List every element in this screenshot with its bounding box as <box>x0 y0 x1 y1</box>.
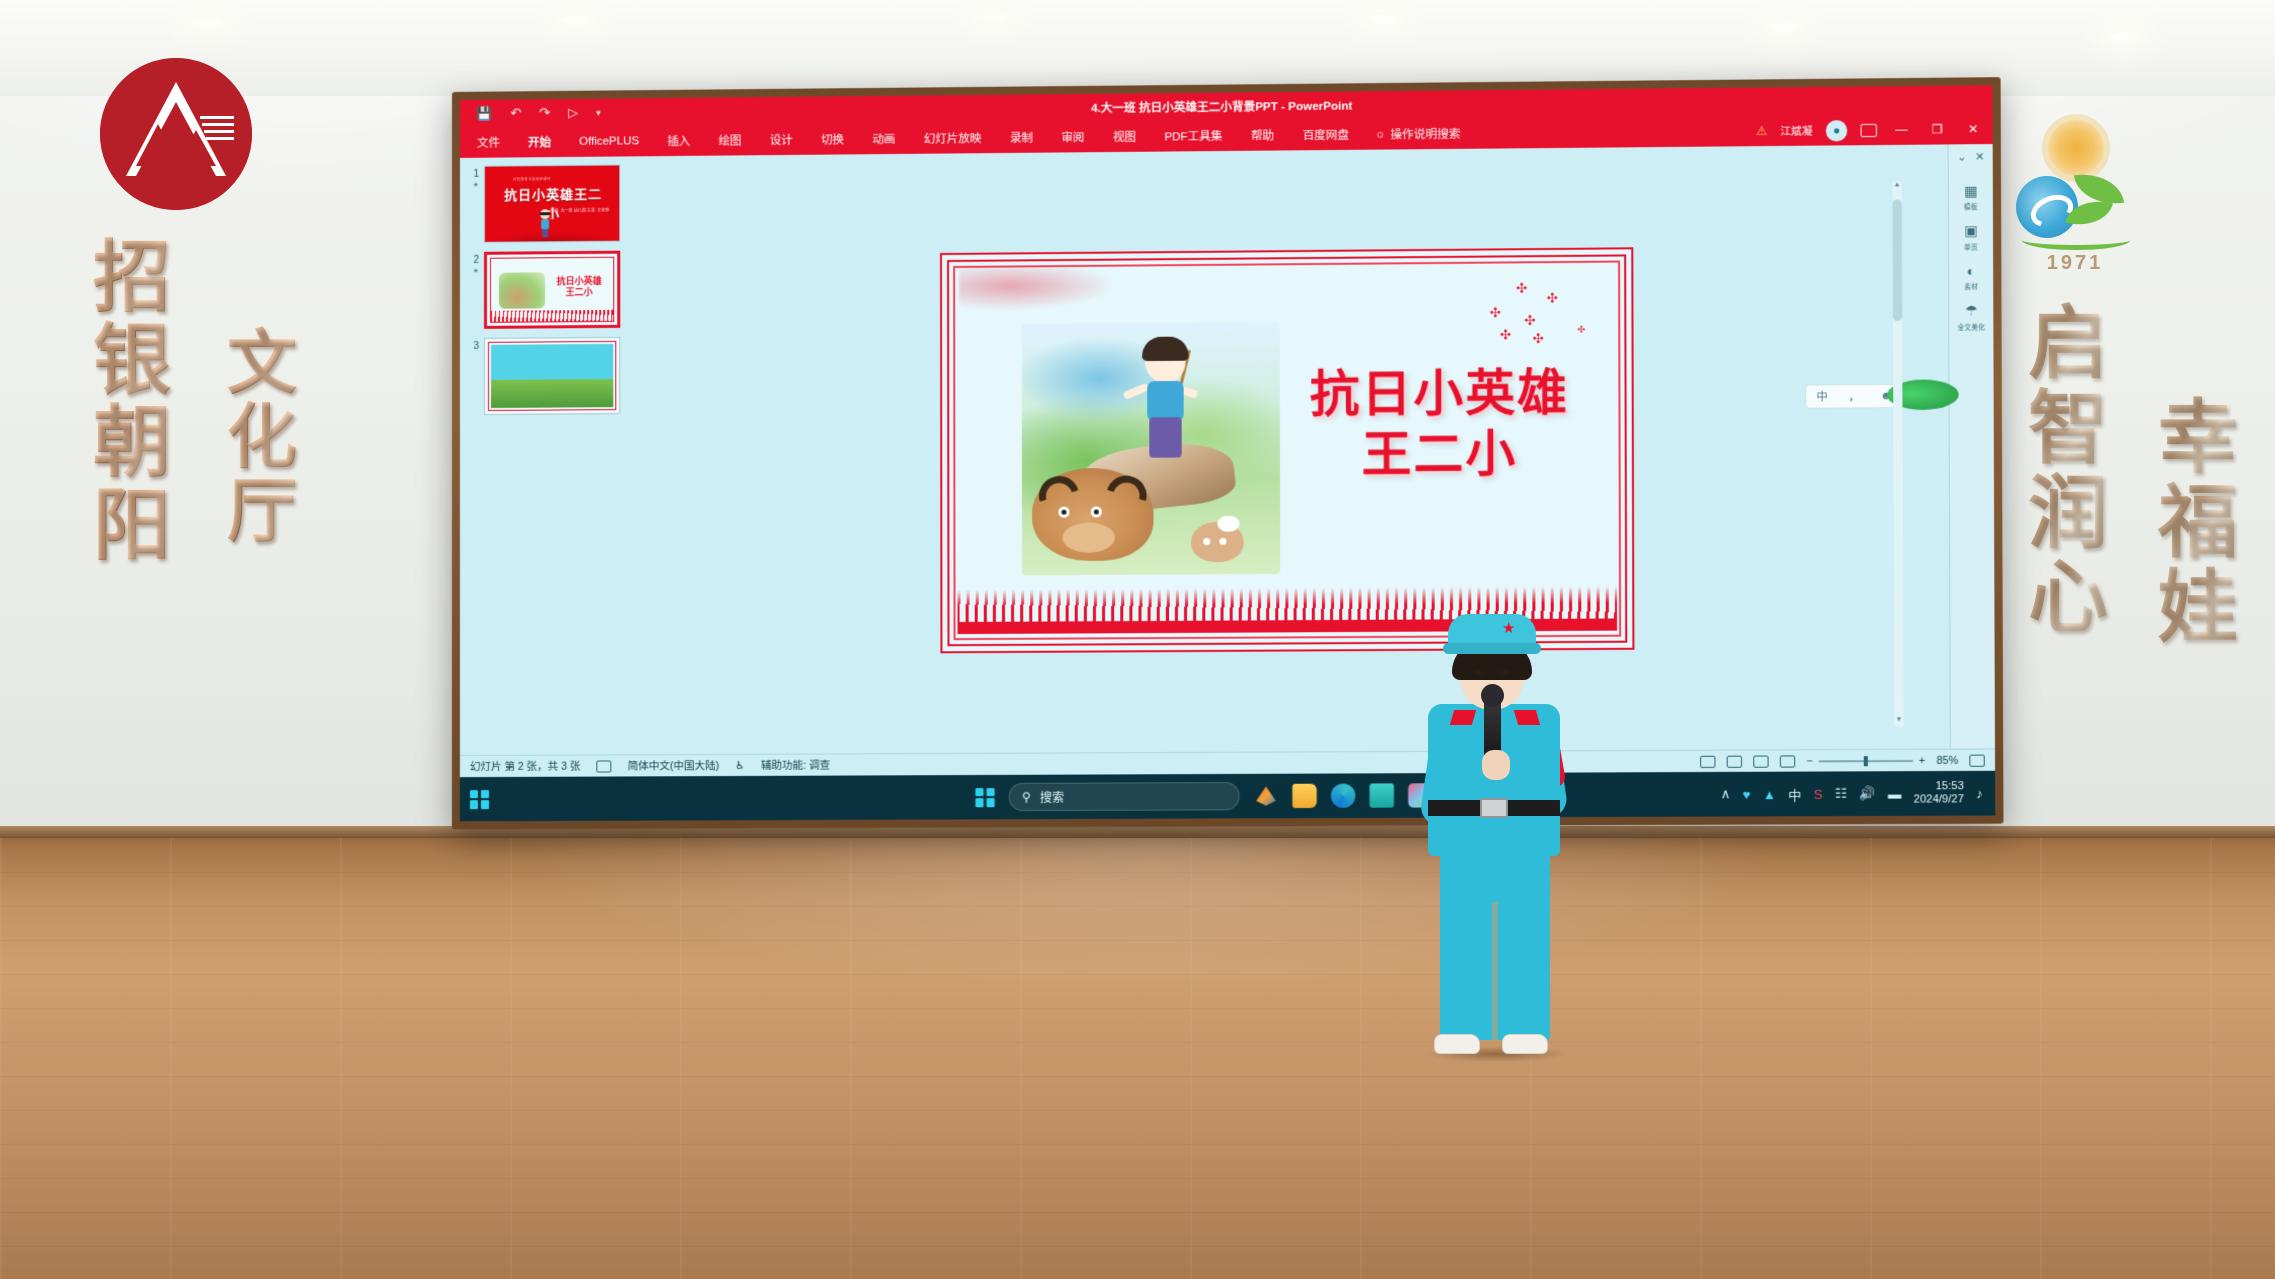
account-user-name[interactable]: 江斌凝 <box>1780 123 1812 138</box>
lightbulb-icon: ☼ <box>1375 128 1386 140</box>
zoom-level-label: 85% <box>1937 754 1959 766</box>
tab-officeplus[interactable]: OfficePLUS <box>576 133 642 150</box>
boy-torso <box>1147 381 1184 422</box>
slide-number: 2 ★ <box>464 252 479 276</box>
thumb1-subtitle: 红色教育主题班会课件 <box>513 176 551 181</box>
ime-mode-indicator[interactable]: 中 <box>1817 388 1828 404</box>
ime-chinese-icon[interactable]: 中 <box>1788 784 1801 803</box>
list-item[interactable]: 3 <box>464 337 624 415</box>
thumb2-title-line1: 抗日小英雄 <box>548 276 610 287</box>
boy-legs <box>1149 417 1181 458</box>
slide-title-line1: 抗日小英雄 <box>1287 364 1592 427</box>
slide-spray-decoration <box>959 267 1131 315</box>
presenter-shoe <box>1502 1034 1548 1054</box>
tab-draw[interactable]: 绘图 <box>715 130 744 150</box>
language-label[interactable]: 简体中文(中国大陆) <box>628 758 719 773</box>
bird-icon: ✣ <box>1533 332 1550 341</box>
presenter-red-collar-patch <box>1514 710 1540 725</box>
buffalo-snout <box>1062 522 1115 553</box>
slide-number: 3 <box>464 338 479 353</box>
presenter-hand <box>1482 750 1510 780</box>
wall-char: 润 <box>2008 472 2128 557</box>
template-icon: ▦ <box>1949 184 1993 200</box>
officeplus-side-panel[interactable]: ⌄ ✕ ▦ 模板 ▣ 单页 ◐ 素材 <box>1948 144 1995 749</box>
ceiling-light <box>186 16 232 30</box>
tab-baidu-netdisk[interactable]: 百度网盘 <box>1299 125 1352 146</box>
wall-char: 化 <box>202 400 322 474</box>
zoom-slider[interactable]: − + <box>1806 754 1925 767</box>
presenter-army-cap: ★ <box>1448 614 1536 650</box>
thumb2-illustration <box>499 272 545 308</box>
wall-char: 厅 <box>202 474 322 548</box>
wall-char: 心 <box>2008 556 2128 641</box>
taskbar-center: ⚲ 搜索 <box>975 781 1471 811</box>
comma-icon[interactable]: ， <box>1848 388 1859 404</box>
notification-bell-icon[interactable]: ♪ <box>1976 786 1983 801</box>
undo-icon[interactable]: ↶ <box>510 105 521 121</box>
projection-screen-frame: 💾 ↶ ↷ ▷ ▾ 4.大一班 抗日小英雄王二小背景PPT - PowerPoi… <box>452 77 2004 829</box>
task-view-icon[interactable] <box>1254 784 1278 808</box>
kindergarten-logo: 1971 <box>2000 120 2150 270</box>
tab-record[interactable]: 录制 <box>1007 128 1036 148</box>
slide-number-label: 3 <box>473 341 479 352</box>
dog-eye <box>1203 538 1210 545</box>
wall-char: 朝 <box>72 401 192 484</box>
presenter-red-collar-patch <box>1450 710 1476 725</box>
wall-char: 阳 <box>72 484 192 567</box>
slide-title-line2: 王二小 <box>1287 424 1592 486</box>
notes-icon[interactable] <box>597 760 612 772</box>
sun-icon <box>2048 120 2104 176</box>
wall-char: 福 <box>2138 481 2258 566</box>
mail-icon[interactable] <box>1370 783 1394 807</box>
side-panel-item-label: 单页 <box>1949 241 1993 251</box>
cmb-logo-mark <box>100 58 252 210</box>
scroll-down-arrow-icon[interactable]: ▼ <box>1894 716 1903 726</box>
slide-title-textbox[interactable]: 抗日小英雄 王二小 <box>1287 364 1592 487</box>
tab-file[interactable]: 文件 <box>474 133 503 153</box>
slide-star-icon: ★ <box>464 181 479 190</box>
save-icon[interactable]: 💾 <box>476 106 492 122</box>
dog-illustration <box>1191 522 1244 563</box>
presenter-eye <box>1474 670 1483 675</box>
reading-view-icon[interactable] <box>1753 755 1768 767</box>
start-slideshow-icon[interactable]: ▷ <box>568 105 578 121</box>
boy-arm <box>1122 383 1149 400</box>
buffalo-horn-icon <box>1034 471 1078 502</box>
left-wall-signage: 招 银 朝 阳 文 化 厅 <box>52 58 412 718</box>
vertical-scrollbar[interactable]: ▲ ▼ <box>1892 181 1903 726</box>
search-placeholder: 搜索 <box>1040 788 1064 805</box>
zoom-track[interactable] <box>1819 759 1913 761</box>
bird-icon: ✣ <box>1500 328 1517 337</box>
buffalo-illustration <box>1032 468 1153 561</box>
ceiling-light <box>1360 12 1406 26</box>
floor-reflection <box>0 838 2275 1279</box>
bird-icon: ✣ <box>1516 281 1533 290</box>
tab-transitions[interactable]: 切换 <box>818 129 847 149</box>
list-item[interactable]: 2 ★ 抗日小英雄 王二小 <box>464 251 624 329</box>
bird-icon: ✣ <box>1524 314 1541 323</box>
fit-to-window-icon[interactable] <box>1969 754 1984 766</box>
clock-time: 15:53 <box>1914 780 1964 794</box>
tab-view[interactable]: 视图 <box>1110 127 1139 147</box>
boy-illustration <box>1131 340 1200 461</box>
zoom-knob[interactable] <box>1864 756 1868 766</box>
redo-icon[interactable]: ↷ <box>539 105 550 121</box>
boy-hair <box>1142 337 1189 362</box>
cap-brim <box>1443 643 1541 654</box>
status-bar-right: − + 85% <box>1700 754 1985 767</box>
microphone-head <box>1481 684 1504 707</box>
scrollbar-thumb[interactable] <box>1893 200 1903 322</box>
minimize-button[interactable]: — <box>1890 122 1913 136</box>
system-tray: ∧ ♥ ▲ 中 S ☷ 🔊 ▬ 15:53 2024/9/27 ♪ <box>1721 780 1983 808</box>
windows-taskbar: ⚲ 搜索 ∧ ♥ ▲ 中 S ☷ 🔊 <box>460 771 1995 822</box>
tab-insert[interactable]: 插入 <box>664 131 693 151</box>
slide-thumbnail-3[interactable] <box>484 337 620 415</box>
thumb1-meta: 班级: 大一班 幼儿园 主讲: 王老师 <box>550 208 609 215</box>
auditorium-scene: 招 银 朝 阳 文 化 厅 1971 启 智 润 心 幸 福 <box>0 0 2275 1279</box>
tell-me-label: 操作说明搜索 <box>1390 126 1460 143</box>
wall-char: 文 <box>202 326 322 400</box>
tab-slideshow[interactable]: 幻灯片放映 <box>921 128 985 149</box>
ribbon-tabs: 文件 开始 OfficePLUS 插入 绘图 设计 切换 动画 幻灯片放映 录制… <box>474 125 1352 153</box>
bird-icon: ✣ <box>1577 325 1594 334</box>
right-wall-text-column-2: 幸 福 娃 <box>2138 396 2258 650</box>
normal-view-icon[interactable] <box>1700 755 1715 767</box>
flying-birds-decoration: ✣ ✣ ✣ ✣ ✣ ✣ ✣ <box>1419 279 1592 349</box>
thumb2-grass-border <box>491 310 613 322</box>
user-avatar-icon[interactable]: ● <box>1826 120 1848 141</box>
dog-tuft <box>1217 516 1239 532</box>
side-panel-item-beautify[interactable]: ☂ 全文美化 <box>1949 303 1993 331</box>
water-drop-icon <box>2016 176 2078 238</box>
accessibility-label[interactable]: 辅助功能: 调查 <box>761 757 830 772</box>
buffalo-eye <box>1058 507 1069 518</box>
ceiling-light <box>552 14 598 28</box>
zoom-out-button[interactable]: − <box>1806 755 1812 767</box>
side-panel-item-template[interactable]: ▦ 模板 <box>1949 184 1993 212</box>
buffalo-eye <box>1091 506 1102 517</box>
thumb1-boy-illustration <box>535 208 555 238</box>
presenter-eye <box>1500 670 1509 675</box>
wall-char: 招 <box>72 236 192 319</box>
show-hidden-icons-chevron[interactable]: ∧ <box>1721 786 1731 802</box>
ribbon-display-options-icon[interactable] <box>1861 123 1877 136</box>
close-icon[interactable]: ✕ <box>1975 150 1984 163</box>
wall-char: 启 <box>2008 302 2128 387</box>
close-button[interactable]: ✕ <box>1962 122 1985 136</box>
current-slide[interactable]: ✣ ✣ ✣ ✣ ✣ ✣ ✣ 抗日小英雄 王二小 <box>947 254 1627 646</box>
bird-icon: ✣ <box>1490 306 1507 315</box>
wooden-floor <box>0 838 2275 1279</box>
search-icon: ⚲ <box>1022 790 1031 804</box>
thumb3-illustration <box>491 344 613 408</box>
slide-thumbnail-pane[interactable]: 1 ★ 红色教育主题班会课件 抗日小英雄王二小 班级: 大一班 幼儿园 主讲: … <box>460 156 631 755</box>
wall-char: 银 <box>72 319 192 402</box>
tab-review[interactable]: 审阅 <box>1058 127 1087 147</box>
restore-button[interactable]: ❐ <box>1926 122 1949 136</box>
projected-desktop: 💾 ↶ ↷ ▷ ▾ 4.大一班 抗日小英雄王二小背景PPT - PowerPoi… <box>460 85 1995 821</box>
thumb2-title: 抗日小英雄 王二小 <box>548 276 610 298</box>
sogou-icon[interactable]: S <box>1814 786 1823 801</box>
cmb-logo <box>100 58 252 210</box>
zoom-in-button[interactable]: + <box>1919 754 1925 766</box>
powerpoint-window: 💾 ↶ ↷ ▷ ▾ 4.大一班 抗日小英雄王二小背景PPT - PowerPoi… <box>460 85 1995 777</box>
presenter-belt-buckle <box>1480 798 1508 818</box>
presenter-shoe <box>1434 1034 1480 1054</box>
left-wall-text-column-2: 文 化 厅 <box>202 326 322 549</box>
scroll-up-arrow-icon[interactable]: ▲ <box>1892 181 1901 191</box>
side-panel-header: ⌄ ✕ <box>1949 148 1993 172</box>
wall-char: 娃 <box>2138 566 2258 651</box>
slide-number: 1 ★ <box>464 166 479 190</box>
taskbar-clock[interactable]: 15:53 2024/9/27 <box>1914 780 1964 807</box>
titlebar-right-controls: ⚠ 江斌凝 ● — ❐ ✕ <box>1756 118 1984 141</box>
bird-icon: ✣ <box>1547 291 1564 300</box>
chevron-down-icon[interactable]: ⌄ <box>1957 150 1966 163</box>
edge-browser-icon[interactable] <box>1331 784 1355 808</box>
slide-count-label: 幻灯片 第 2 张，共 3 张 <box>470 759 581 775</box>
warning-triangle-icon[interactable]: ⚠ <box>1756 124 1767 138</box>
slide-thumbnail-1[interactable]: 红色教育主题班会课件 抗日小英雄王二小 班级: 大一班 幼儿园 主讲: 王老师 <box>484 164 620 242</box>
slide-number-label: 2 <box>473 255 479 266</box>
security-shield-icon[interactable]: ♥ <box>1743 787 1751 802</box>
ceiling-light <box>2102 30 2148 44</box>
side-panel-item-single-page[interactable]: ▣ 单页 <box>1949 223 1993 251</box>
right-wall-text-column-1: 启 智 润 心 <box>2008 302 2128 641</box>
windows-start-icon[interactable] <box>975 788 994 807</box>
tell-me-search[interactable]: ☼ 操作说明搜索 <box>1375 126 1461 143</box>
beautify-icon: ☂ <box>1949 303 1993 319</box>
ceiling-light <box>970 10 1016 24</box>
stem-icon <box>2022 230 2130 250</box>
file-explorer-icon[interactable] <box>1292 784 1316 808</box>
tab-home[interactable]: 开始 <box>525 132 554 152</box>
material-icon: ◐ <box>1949 263 1993 279</box>
ceiling-light <box>1760 20 1806 34</box>
left-wall-text-column-1: 招 银 朝 阳 <box>72 236 192 567</box>
child-presenter: ★ <box>1400 614 1590 1094</box>
taskbar-left <box>470 790 489 809</box>
side-panel-item-label: 全文美化 <box>1949 321 1993 331</box>
clock-date: 2024/9/27 <box>1914 793 1964 807</box>
tab-animations[interactable]: 动画 <box>869 129 898 149</box>
customize-qat-icon[interactable]: ▾ <box>596 107 601 118</box>
list-item[interactable]: 1 ★ 红色教育主题班会课件 抗日小英雄王二小 班级: 大一班 幼儿园 主讲: … <box>464 164 624 242</box>
slide-thumbnail-2[interactable]: 抗日小英雄 王二小 <box>484 251 620 329</box>
single-page-icon: ▣ <box>1949 223 1993 239</box>
tab-design[interactable]: 设计 <box>767 130 796 150</box>
slide-star-icon: ★ <box>464 267 479 276</box>
side-panel-item-label: 素材 <box>1949 281 1993 291</box>
network-icon[interactable]: ☷ <box>1835 786 1847 802</box>
battery-icon[interactable]: ▬ <box>1888 786 1901 801</box>
presenter-leg-gap <box>1492 902 1498 1040</box>
volume-icon[interactable]: 🔊 <box>1859 785 1876 801</box>
boy-with-buffalo-illustration[interactable] <box>1022 322 1280 576</box>
taskbar-search-box[interactable]: ⚲ 搜索 <box>1009 782 1240 811</box>
slide-editing-stage[interactable]: ✣ ✣ ✣ ✣ ✣ ✣ ✣ 抗日小英雄 王二小 <box>630 144 1950 754</box>
dog-eye <box>1219 538 1226 545</box>
wall-char: 幸 <box>2138 396 2258 481</box>
wall-char: 智 <box>2008 387 2128 472</box>
accessibility-icon: ♿ <box>735 759 744 771</box>
side-panel-item-label: 模板 <box>1949 201 1993 212</box>
onedrive-icon[interactable]: ▲ <box>1763 786 1776 801</box>
side-panel-item-material[interactable]: ◐ 素材 <box>1949 263 1993 291</box>
tab-help[interactable]: 帮助 <box>1248 125 1277 145</box>
tab-pdf-tools[interactable]: PDF工具集 <box>1161 126 1225 147</box>
powerpoint-body: 1 ★ 红色教育主题班会课件 抗日小英雄王二小 班级: 大一班 幼儿园 主讲: … <box>460 144 1995 755</box>
slide-sorter-icon[interactable] <box>1726 755 1741 767</box>
thumb2-title-line2: 王二小 <box>548 286 610 297</box>
windows-start-icon[interactable] <box>470 790 489 809</box>
established-year: 1971 <box>2000 252 2150 275</box>
slide-number-label: 1 <box>473 169 479 180</box>
slideshow-view-icon[interactable] <box>1780 755 1795 767</box>
